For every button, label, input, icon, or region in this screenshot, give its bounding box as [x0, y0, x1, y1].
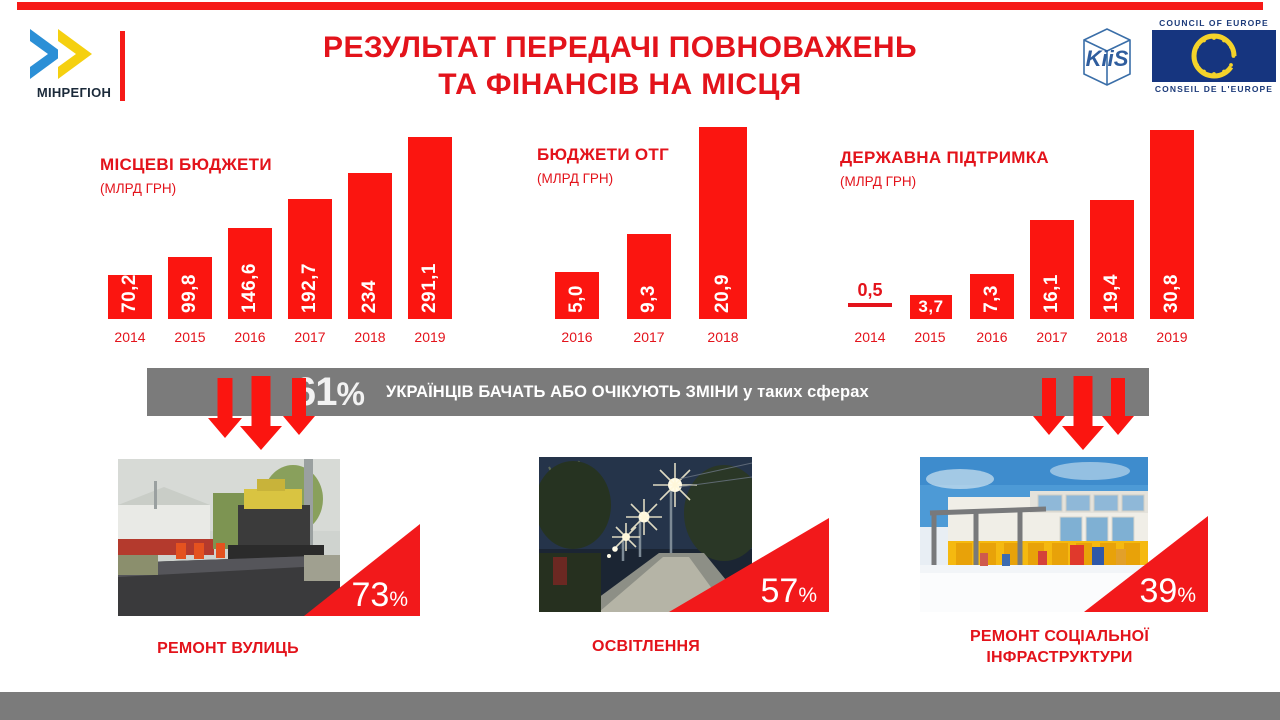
bar-2019: 30,8 — [1150, 130, 1194, 319]
bar-value-2015: 3,7 — [918, 297, 943, 317]
card-label-lighting: ОСВІТЛЕННЯ — [521, 637, 771, 658]
chart-otg-budgets: БЮДЖЕТИ ОТГ (МЛРД ГРН) 5,0 9,3 20,9 2016… — [537, 145, 792, 345]
survey-text: УКРАЇНЦІВ БАЧАТЬ АБО ОЧІКУЮТЬ ЗМІНИ у та… — [386, 383, 869, 402]
bar-2014: 70,2 — [108, 275, 152, 319]
x-tick-2016: 2016 — [549, 329, 605, 345]
page-title-line1: РЕЗУЛЬТАТ ПЕРЕДАЧІ ПОВНОВАЖЕНЬ — [200, 30, 1040, 67]
x-tick-2019: 2019 — [402, 329, 458, 345]
x-tick-2017: 2017 — [621, 329, 677, 345]
bar-value-2017: 16,1 — [1041, 274, 1063, 313]
x-tick-2016: 2016 — [964, 329, 1020, 345]
card-road-repair[interactable]: 73% РЕМОНТ ВУЛИЦЬ — [118, 459, 380, 659]
survey-text-bold: УКРАЇНЦІВ БАЧАТЬ АБО ОЧІКУЮТЬ ЗМІНИ — [386, 383, 739, 401]
council-of-europe-logo: COUNCIL OF EUROPE CONSEIL DE L'EUROPE — [1152, 18, 1276, 96]
card-percent-symbol: % — [389, 588, 408, 611]
x-tick-2015: 2015 — [902, 329, 958, 345]
bar-value-2019: 30,8 — [1161, 274, 1183, 313]
header-divider — [120, 31, 125, 101]
x-tick-2019: 2019 — [1144, 329, 1200, 345]
footer-bar — [0, 692, 1280, 720]
card-label-road-repair: РЕМОНТ ВУЛИЦЬ — [98, 639, 358, 660]
bar-value-2017: 192,7 — [299, 263, 321, 313]
bar-value-2016: 5,0 — [566, 285, 588, 313]
card-label-line1: РЕМОНТ СОЦІАЛЬНОЇ — [932, 627, 1187, 648]
coe-flag — [1152, 30, 1276, 82]
card-label-line2: ІНФРАСТРУКТУРИ — [932, 648, 1187, 669]
top-red-rule — [17, 2, 1263, 10]
card-percent-value: 73 — [351, 576, 389, 614]
down-arrow-icon-right-2 — [1062, 376, 1104, 448]
coe-top-label: COUNCIL OF EUROPE — [1152, 18, 1276, 28]
kiis-logo: KiiS — [1074, 24, 1140, 90]
x-tick-2017: 2017 — [1024, 329, 1080, 345]
x-tick-2016: 2016 — [222, 329, 278, 345]
x-tick-2014: 2014 — [842, 329, 898, 345]
x-tick-2015: 2015 — [162, 329, 218, 345]
chart-state-support-plot: 0,5 3,7 7,3 16,1 19,4 30,8 — [840, 130, 1200, 319]
down-arrow-icon-left-2 — [240, 376, 282, 448]
x-tick-2018: 2018 — [342, 329, 398, 345]
coe-emblem-icon — [1152, 30, 1276, 82]
chevron-icon — [28, 27, 116, 81]
x-tick-2017: 2017 — [282, 329, 338, 345]
card-lighting[interactable]: 57% ОСВІТЛЕННЯ — [539, 457, 791, 657]
bar-value-2015: 99,8 — [179, 274, 201, 313]
card-percent-value: 39 — [1139, 572, 1177, 610]
minregion-logo: МІНРЕГІОН — [28, 27, 118, 105]
bar-2017: 192,7 — [288, 199, 332, 319]
bar-value-2018: 20,9 — [712, 274, 734, 313]
bar-value-2016: 146,6 — [239, 263, 261, 313]
bar-2014 — [848, 303, 892, 307]
survey-percent-symbol: % — [337, 376, 364, 412]
percent-corner-badge: 73% — [304, 524, 420, 616]
bar-2015: 3,7 — [910, 295, 952, 319]
bar-2017: 16,1 — [1030, 220, 1074, 319]
bar-2018: 20,9 — [699, 127, 747, 319]
bar-2017: 9,3 — [627, 234, 671, 319]
down-arrow-icon-left-3 — [282, 378, 316, 436]
page-title: РЕЗУЛЬТАТ ПЕРЕДАЧІ ПОВНОВАЖЕНЬ ТА ФІНАНС… — [200, 30, 1040, 104]
bar-2015: 99,8 — [168, 257, 212, 319]
x-tick-2018: 2018 — [1084, 329, 1140, 345]
survey-text-rest: у таких сферах — [738, 383, 868, 401]
bar-value-2016: 7,3 — [981, 285, 1003, 313]
bar-2016: 5,0 — [555, 272, 599, 319]
card-percent-symbol: % — [798, 584, 817, 607]
bar-2019: 291,1 — [408, 137, 452, 319]
chart-state-support: ДЕРЖАВНА ПІДТРИМКА (МЛРД ГРН) 0,5 3,7 7,… — [840, 148, 1200, 345]
slide-canvas: МІНРЕГІОН РЕЗУЛЬТАТ ПЕРЕДАЧІ ПОВНОВАЖЕНЬ… — [0, 0, 1280, 720]
bar-value-2017: 9,3 — [638, 285, 660, 313]
bar-value-2014: 0,5 — [844, 280, 896, 301]
down-arrow-icon-right-3 — [1101, 378, 1135, 436]
down-arrow-icon-right-1 — [1032, 378, 1066, 436]
coe-bottom-label: CONSEIL DE L'EUROPE — [1152, 84, 1276, 94]
bar-2018: 234 — [348, 173, 392, 319]
page-title-line2: ТА ФІНАНСІВ НА МІСЦЯ — [200, 67, 1040, 104]
bar-value-2018: 19,4 — [1101, 274, 1123, 313]
kiis-logo-icon: KiiS — [1074, 24, 1140, 90]
bar-2018: 19,4 — [1090, 200, 1134, 319]
card-percent: 57% — [760, 574, 817, 608]
kiis-logo-label: KiiS — [1086, 46, 1129, 71]
bar-value-2014: 70,2 — [119, 274, 141, 313]
bar-value-2018: 234 — [359, 280, 381, 313]
percent-corner-badge: 57% — [669, 518, 829, 612]
chart-local-budgets-plot: 70,2 99,8 146,6 192,7 234 291,1 — [100, 137, 460, 319]
down-arrow-icon-left-1 — [207, 378, 243, 438]
card-label-social-infrastructure: РЕМОНТ СОЦІАЛЬНОЇ ІНФРАСТРУКТУРИ — [932, 627, 1187, 669]
minregion-logo-label: МІНРЕГІОН — [28, 85, 120, 100]
card-percent-symbol: % — [1177, 584, 1196, 607]
card-percent: 73% — [351, 578, 408, 612]
card-social-infrastructure[interactable]: 39% РЕМОНТ СОЦІАЛЬНОЇ ІНФРАСТРУКТУРИ — [920, 457, 1190, 667]
card-percent: 39% — [1139, 574, 1196, 608]
bar-2016: 146,6 — [228, 228, 272, 319]
chart-otg-budgets-plot: 5,0 9,3 20,9 — [537, 127, 792, 319]
x-tick-2014: 2014 — [102, 329, 158, 345]
chart-local-budgets: МІСЦЕВІ БЮДЖЕТИ (МЛРД ГРН) 70,2 99,8 146… — [100, 155, 460, 345]
bar-value-2019: 291,1 — [419, 263, 441, 313]
x-tick-2018: 2018 — [695, 329, 751, 345]
bar-2016: 7,3 — [970, 274, 1014, 319]
percent-corner-badge: 39% — [1084, 516, 1208, 612]
card-percent-value: 57 — [760, 572, 798, 610]
